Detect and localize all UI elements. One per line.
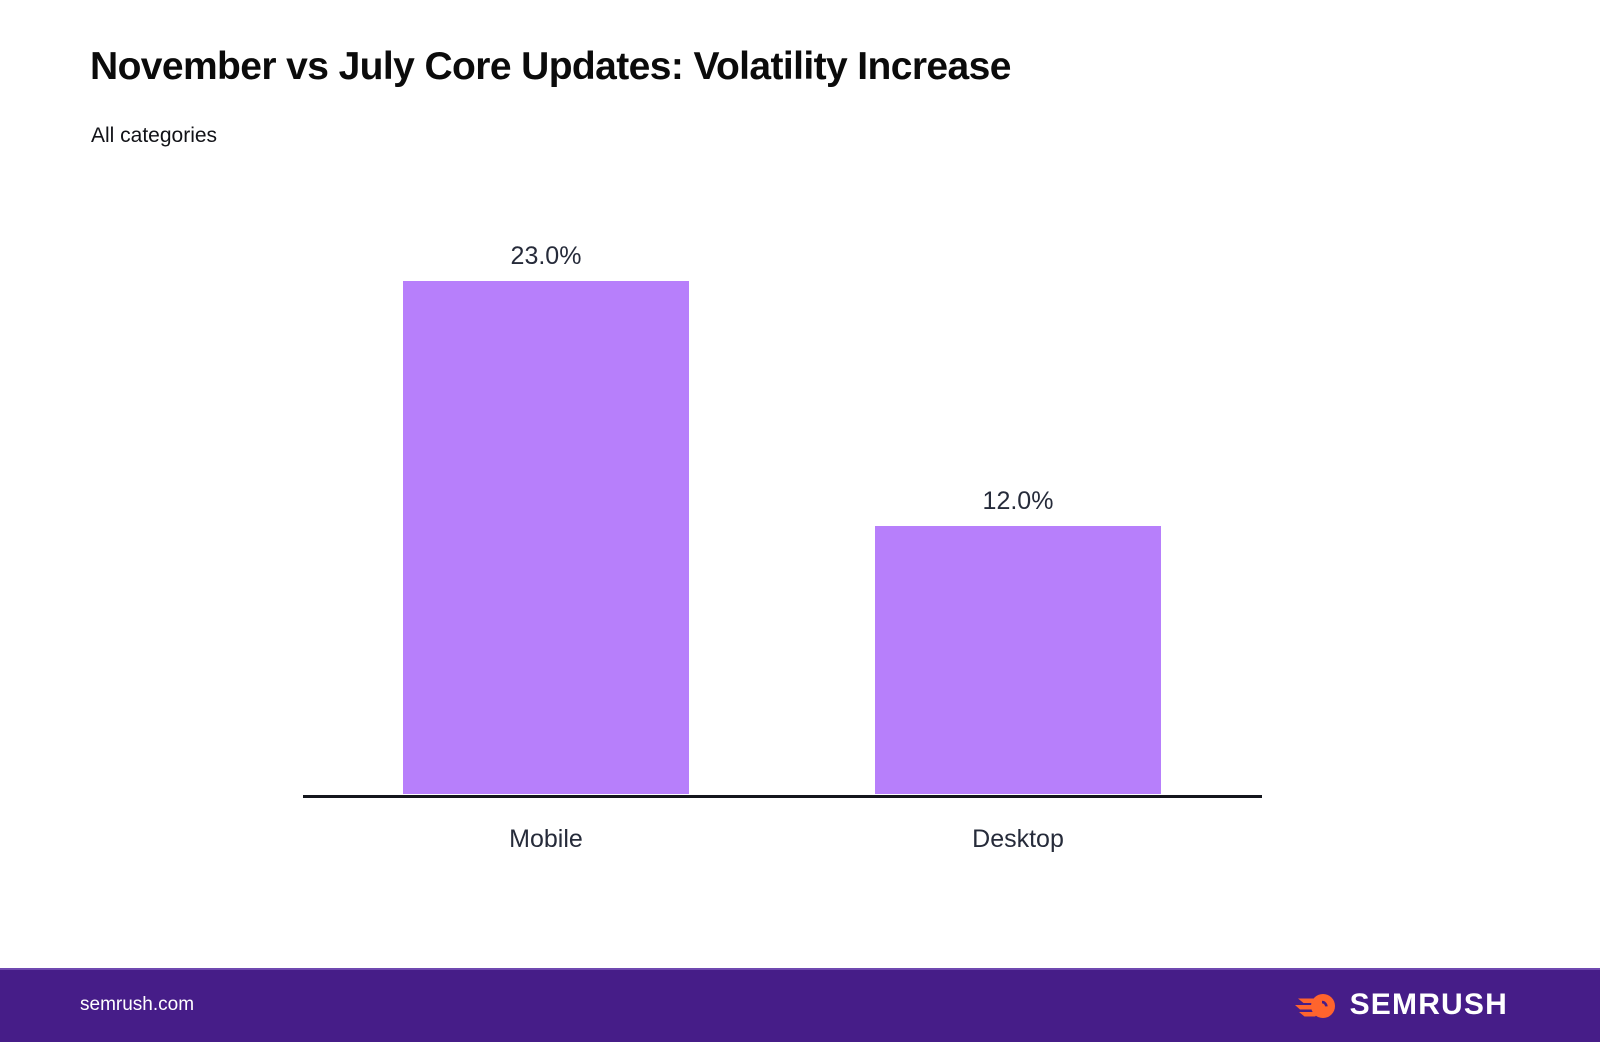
x-tick-label-desktop: Desktop <box>875 825 1161 854</box>
x-tick-label-mobile: Mobile <box>403 825 689 854</box>
bar-group-desktop: 12.0% <box>875 526 1161 794</box>
page-title: November vs July Core Updates: Volatilit… <box>90 46 1011 89</box>
bar-value-desktop: 12.0% <box>875 487 1161 516</box>
bar-desktop[interactable] <box>875 526 1161 794</box>
semrush-comet-icon <box>1295 989 1339 1021</box>
footer-website-url[interactable]: semrush.com <box>80 994 194 1016</box>
bar-group-mobile: 23.0% <box>403 281 689 794</box>
bar-chart: 23.0% 12.0% Mobile Desktop <box>300 180 1265 860</box>
chart-plot-area: 23.0% 12.0% <box>300 180 1265 797</box>
slide-canvas: November vs July Core Updates: Volatilit… <box>0 0 1600 1042</box>
footer-top-divider <box>0 968 1600 970</box>
bar-mobile[interactable] <box>403 281 689 794</box>
footer-bar: semrush.com SEMRUSH <box>0 968 1600 1042</box>
page-subtitle: All categories <box>91 124 217 148</box>
brand-wordmark: SEMRUSH <box>1350 990 1508 1020</box>
bar-value-mobile: 23.0% <box>403 242 689 271</box>
brand-logo[interactable]: SEMRUSH <box>1295 989 1508 1021</box>
x-axis-line <box>303 795 1262 798</box>
